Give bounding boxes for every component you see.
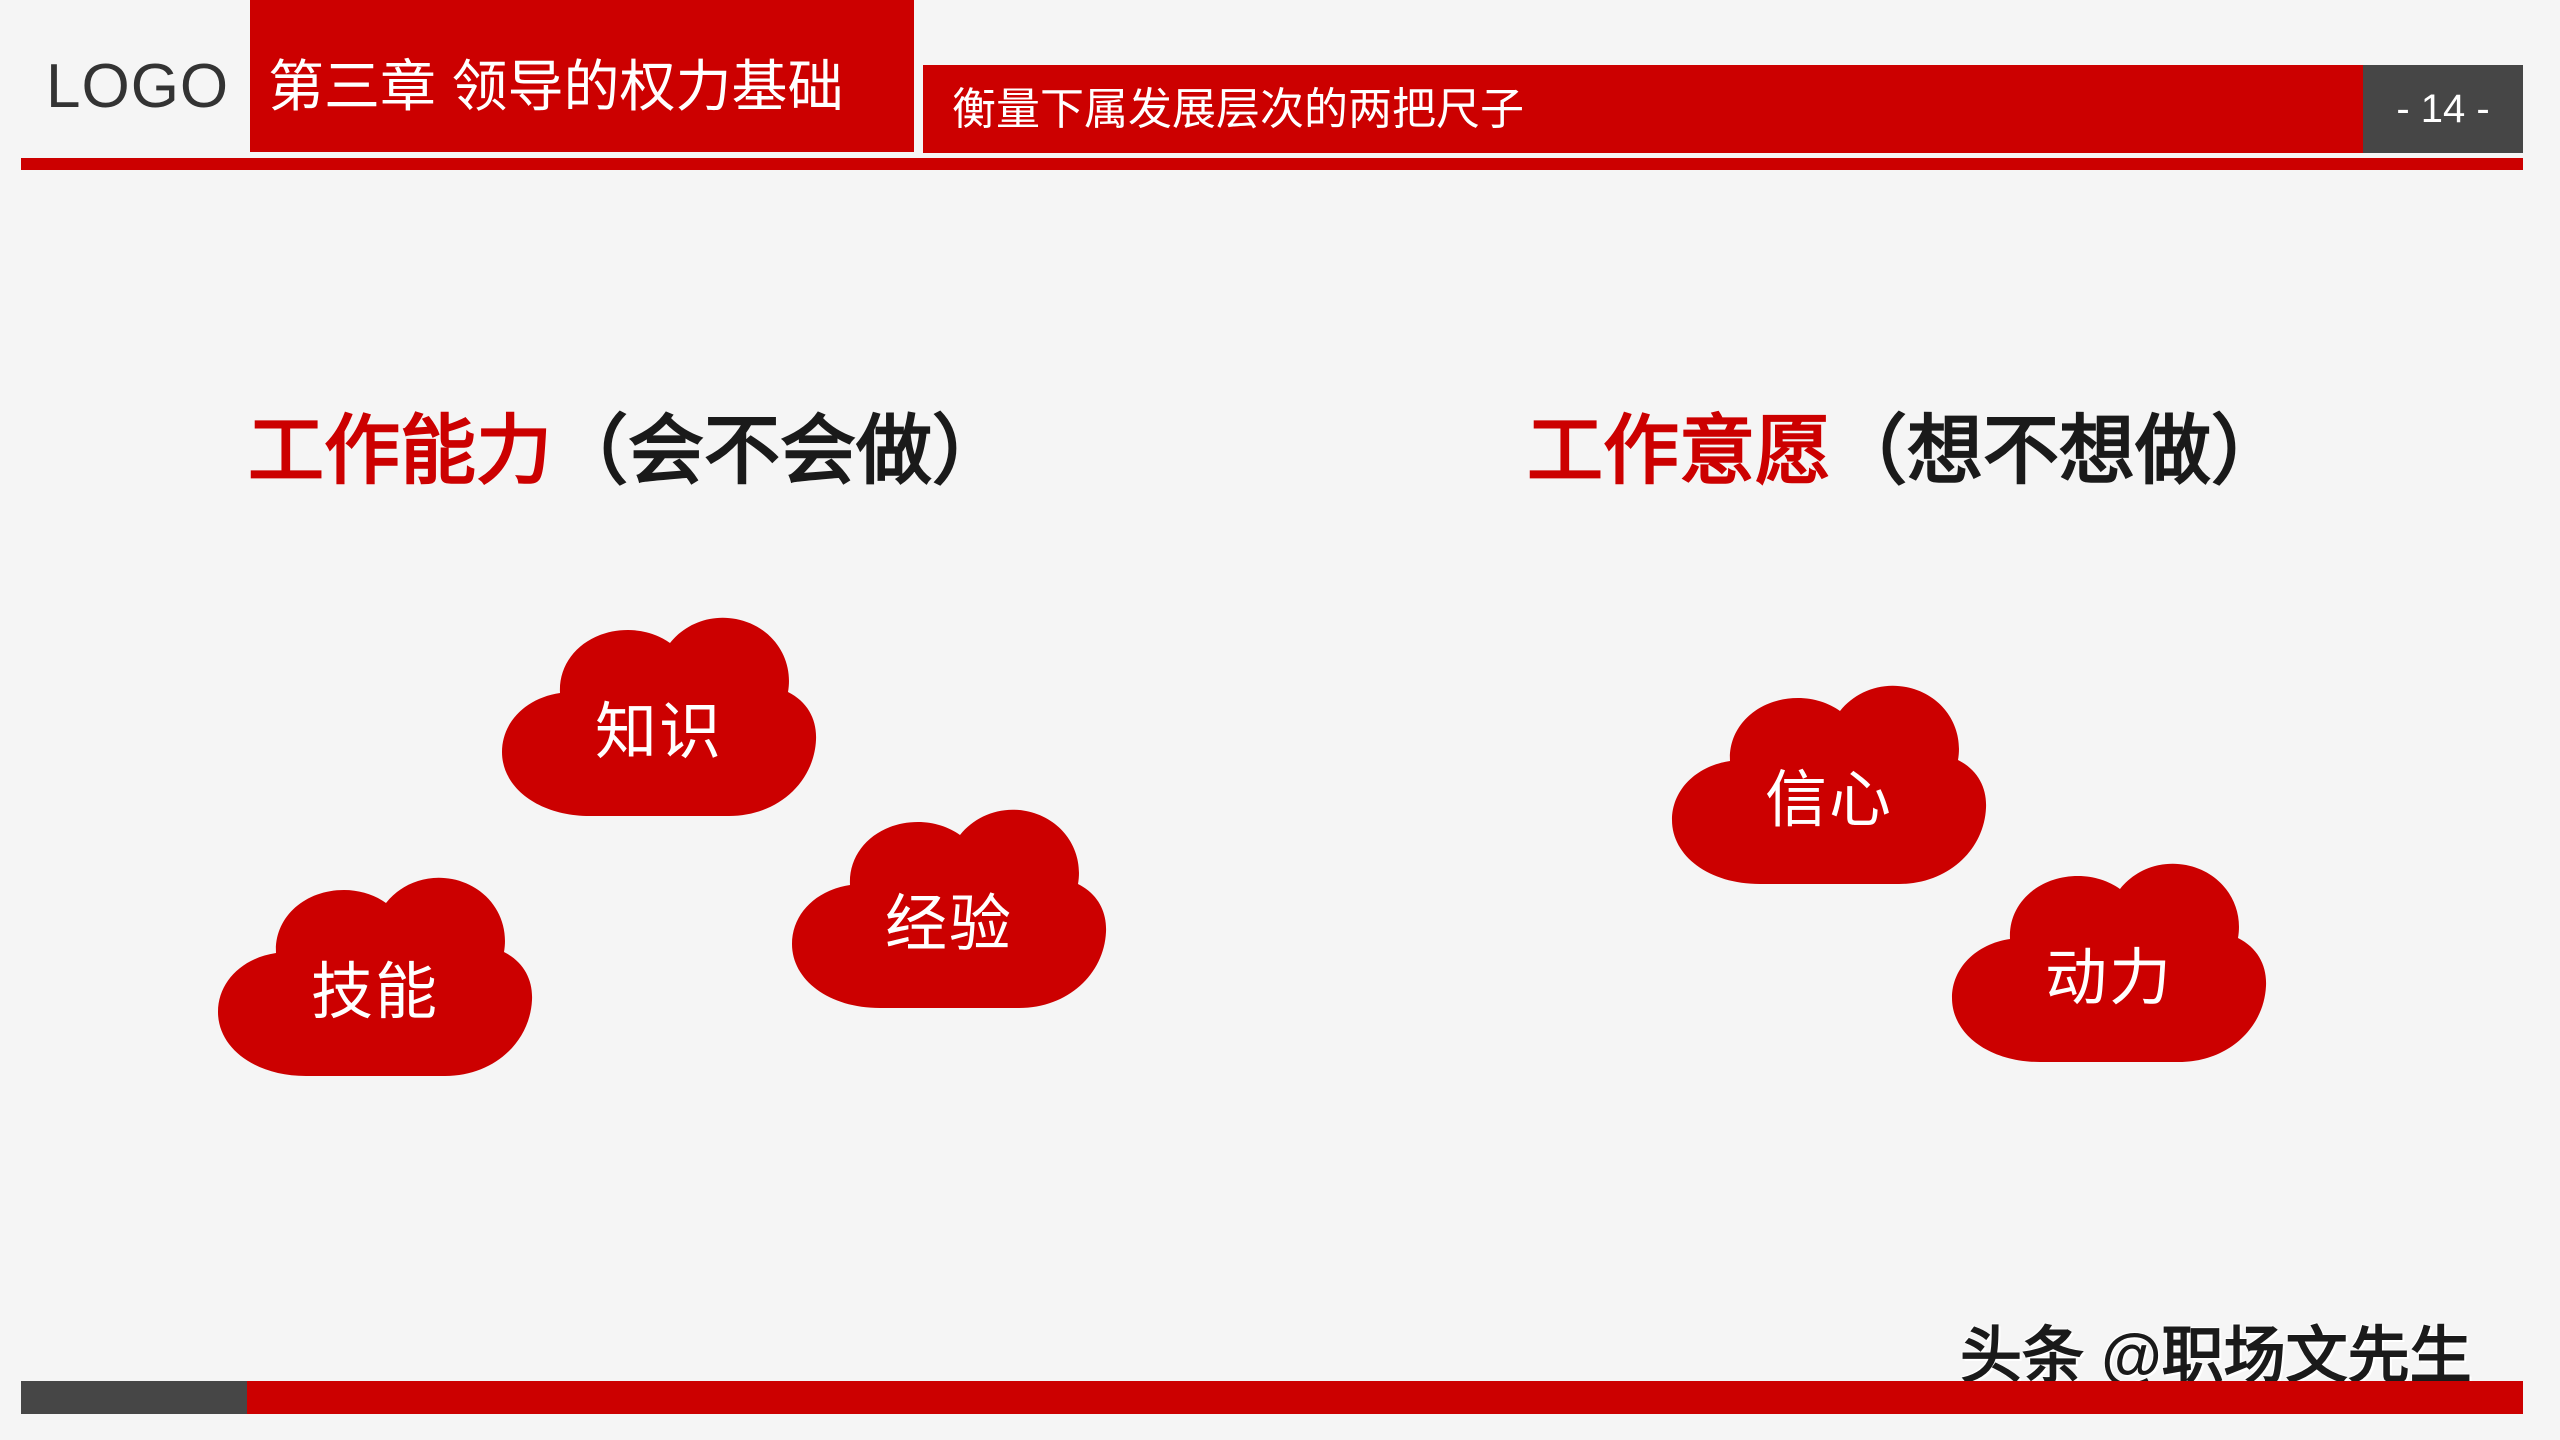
cloud-skill[interactable]: 技能 — [214, 876, 536, 1076]
page-number-label: - 14 - — [2363, 65, 2523, 153]
cloud-experience[interactable]: 经验 — [788, 808, 1110, 1008]
header-chapter-title: 第三章 领导的权力基础 — [268, 42, 908, 132]
footer-bar-red — [247, 1381, 2523, 1414]
heading-work-will-red: 工作意愿 — [1527, 414, 1831, 490]
slide-canvas: LOGO 第三章 领导的权力基础 衡量下属发展层次的两把尺子 - 14 - 工作… — [0, 0, 2560, 1440]
heading-work-ability-red: 工作能力 — [248, 414, 552, 490]
cloud-skill-label: 技能 — [214, 876, 536, 1076]
header-subtitle-text: 衡量下属发展层次的两把尺子 — [952, 69, 1524, 151]
cloud-knowledge[interactable]: 知识 — [498, 616, 820, 816]
header-divider-rule — [21, 158, 2523, 170]
heading-work-ability: 工作能力 （会不会做） — [248, 404, 1008, 500]
cloud-confidence[interactable]: 信心 — [1668, 684, 1990, 884]
cloud-experience-label: 经验 — [788, 808, 1110, 1008]
logo: LOGO — [46, 44, 242, 130]
cloud-confidence-label: 信心 — [1668, 684, 1990, 884]
cloud-knowledge-label: 知识 — [498, 616, 820, 816]
heading-work-will: 工作意愿 （想不想做） — [1527, 404, 2287, 500]
cloud-motivation-label: 动力 — [1948, 862, 2270, 1062]
footer-bar-dark — [21, 1381, 247, 1414]
heading-work-ability-black: （会不会做） — [552, 414, 1008, 490]
cloud-motivation[interactable]: 动力 — [1948, 862, 2270, 1062]
heading-work-will-black: （想不想做） — [1831, 414, 2287, 490]
